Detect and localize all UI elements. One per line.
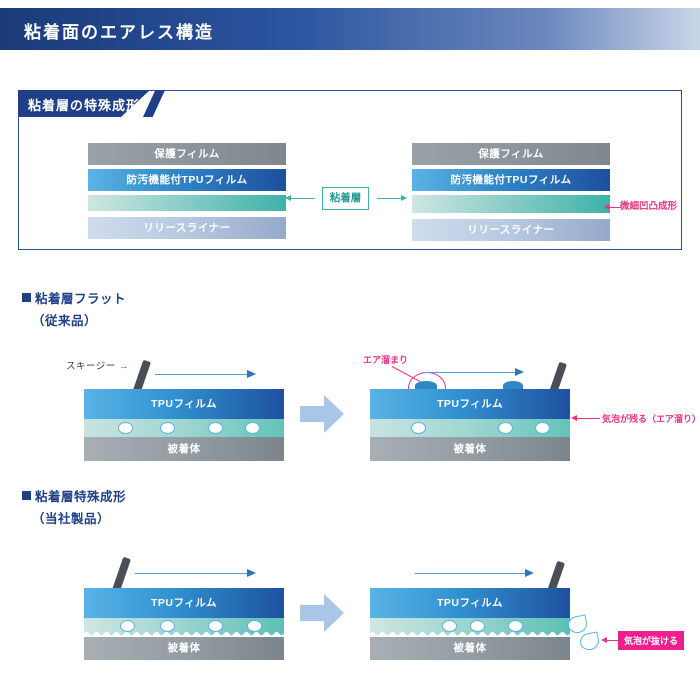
- air-bubble-icon: [245, 422, 260, 434]
- remain-label-leader-line: [577, 418, 600, 419]
- tpu-film-band: TPUフィルム: [84, 588, 284, 618]
- air-bubble-icon: [508, 620, 523, 632]
- flow-arrow-head-icon: [515, 368, 524, 376]
- air-bubble-icon: [120, 620, 135, 632]
- micro-label-arrow-line: [607, 207, 621, 208]
- tpu-film-band: TPUフィルム: [370, 588, 570, 618]
- flow-arrow-head-icon: [247, 569, 256, 577]
- layer-protective-film: 保護フィルム: [88, 143, 286, 165]
- page-title: 粘着面のエアレス構造: [24, 18, 214, 43]
- flow-arrow-head-icon: [247, 370, 256, 378]
- section-heading-textured: 粘着層特殊成形: [22, 486, 126, 505]
- escaping-bubble-icon: [579, 631, 601, 651]
- adhesive-band-textured: [84, 618, 284, 636]
- frame-tab-label: 粘着層の特殊成形: [28, 95, 140, 114]
- section-subheading-flat: （従来品）: [32, 310, 97, 329]
- air-bubble-icon: [535, 422, 550, 434]
- air-bubble-icon: [498, 422, 513, 434]
- section-heading-flat: 粘着層フラット: [22, 288, 126, 307]
- callout-arrow-right-head-icon: [401, 195, 407, 201]
- air-pocket-label: エア溜まり: [363, 353, 408, 366]
- layer-tpu-film: 防汚機能付TPUフィルム: [412, 169, 610, 191]
- bubbles-escape-badge: 気泡が抜ける: [618, 631, 684, 650]
- process-arrow-icon: [300, 594, 344, 632]
- flow-arrow-line: [155, 374, 247, 375]
- flow-arrow-line: [135, 573, 247, 574]
- layer-release-liner: リリースライナー: [412, 219, 610, 241]
- squeegee-label: スキージー →: [66, 358, 129, 372]
- air-bubble-icon: [208, 620, 223, 632]
- layer-tpu-film: 防汚機能付TPUフィルム: [88, 169, 286, 191]
- air-bubble-icon: [160, 620, 175, 632]
- air-bubble-group: [84, 419, 284, 437]
- air-bubble-icon: [442, 620, 457, 632]
- air-bubble-icon: [411, 422, 426, 434]
- air-bubble-group: [84, 618, 284, 636]
- micro-texture-label: 微細凹凸成形: [620, 198, 677, 212]
- adhesive-band-flat: [370, 419, 570, 437]
- air-bubble-icon: [118, 422, 133, 434]
- substrate-band: 被着体: [84, 437, 284, 461]
- adhesive-band-textured: [370, 618, 570, 636]
- bullet-square-icon: [22, 293, 31, 302]
- tpu-film-band: TPUフィルム: [370, 389, 570, 419]
- layer-stack-textured: 保護フィルム 防汚機能付TPUフィルム リリースライナー: [412, 143, 610, 241]
- tpu-film-band: TPUフィルム: [84, 389, 284, 419]
- substrate-band: 被着体: [370, 437, 570, 461]
- layer-adhesive-flat: [88, 195, 286, 211]
- layer-stack-conventional: 保護フィルム 防汚機能付TPUフィルム リリースライナー: [88, 143, 286, 239]
- flow-arrow-line: [423, 372, 515, 373]
- air-bubble-icon: [470, 620, 485, 632]
- bubbles-remain-label: 気泡が残る（エア溜り）: [602, 412, 700, 425]
- air-bubble-icon: [208, 422, 223, 434]
- bullet-square-icon: [22, 491, 31, 500]
- callout-arrow-left-head-icon: [285, 195, 291, 201]
- air-bubble-icon: [160, 422, 175, 434]
- page-header: 粘着面のエアレス構造: [0, 8, 700, 50]
- diagram-page: 粘着面のエアレス構造 粘着層の特殊成形 保護フィルム 防汚機能付TPUフィルム …: [0, 0, 700, 700]
- layer-release-liner: リリースライナー: [88, 217, 286, 239]
- process-arrow-icon: [300, 395, 344, 433]
- air-bubble-group: [370, 419, 570, 437]
- substrate-band: 被着体: [370, 636, 570, 660]
- flow-arrow-line: [415, 573, 525, 574]
- layer-protective-film: 保護フィルム: [412, 143, 610, 165]
- callout-arrow-left-line: [287, 198, 315, 199]
- air-bubble-group: [370, 618, 570, 636]
- air-bubble-icon: [247, 620, 262, 632]
- adhesive-band-flat: [84, 419, 284, 437]
- flow-arrow-head-icon: [525, 569, 534, 577]
- substrate-band: 被着体: [84, 636, 284, 660]
- section-subheading-textured: （当社製品）: [32, 508, 110, 527]
- adhesive-layer-callout: 粘着層: [322, 187, 369, 210]
- layer-adhesive-textured: [412, 195, 610, 213]
